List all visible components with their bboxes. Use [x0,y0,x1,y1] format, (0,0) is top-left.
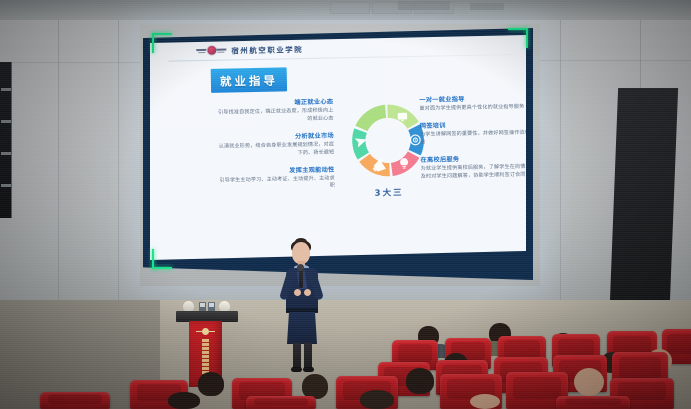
right-column: 一对一就业指导 面对面为学生提供更具个性化的就业指导服务 网签培训 为学生讲解网… [419,93,526,189]
lectern-emblem-icon [196,328,215,336]
audience-head [360,390,394,409]
right-block-3: 在离校后服务 为就业学生提供离校后服务，了解学生在岗情况，及时对学生问题解答，协… [420,152,526,181]
right-block-1: 一对一就业指导 面对面为学生提供更具个性化的就业指导服务 [419,93,526,114]
block-heading: 一对一就业指导 [419,93,526,104]
slide-body: 端正就业心态 引导找准自我定位，端正就业态度，形成积极向上的就业心态 分析就业市… [163,93,520,250]
left-column: 端正就业心态 引导找准自我定位，端正就业态度，形成积极向上的就业心态 分析就业市… [215,96,335,200]
lecture-hall-scene: 宿州航空职业学院 就业指导 端正就业心态 引导找准自我定位，端正就业态度，形成积… [0,0,691,409]
leg-right [304,343,312,369]
left-block-2: 分析就业市场 认清就业形势，结合自身职业发展规划情况，对症下药、扬长避短 [216,130,334,159]
left-block-1: 端正就业心态 引导找准自我定位，端正就业态度，形成积极向上的就业心态 [215,96,333,125]
block-heading: 端正就业心态 [215,96,333,107]
block-body: 引导找准自我定位，端正就业态度，形成积极向上的就业心态 [215,107,333,125]
slide-title: 就业指导 [220,74,278,89]
skirt [287,312,317,344]
microphone-head [297,264,304,271]
shoe-right [303,367,314,372]
block-heading: 发挥主观能动性 [217,164,335,175]
block-heading: 在离校后服务 [420,152,526,163]
school-logo-icon [196,45,226,59]
microphone-icon [299,268,303,288]
audience-head [198,372,224,396]
corner-alignment-bracket-top-left [152,33,178,59]
shoe-left [291,367,302,372]
corner-alignment-bracket-bottom-left [152,243,178,269]
school-name: 宿州航空职业学院 [231,44,303,56]
audience-head [168,392,200,409]
audience-head [470,394,500,409]
audience-head [406,368,434,394]
projected-slide: 宿州航空职业学院 就业指导 端正就业心态 引导找准自我定位，端正就业态度，形成积… [150,35,526,260]
seat [246,396,316,409]
block-body: 为就业学生提供离校后服务，了解学生在岗情况，及时对学生问题解答，协助学生顺利签订… [421,163,526,181]
seat [556,396,630,409]
segment-upper-left [355,105,386,132]
wall-panel-left [0,62,12,218]
block-body: 认清就业形势，结合自身职业发展规划情况，对症下药、扬长避短 [216,141,334,159]
block-body: 为学生讲解网签的重要性，并做好网签操作流程培训 [420,129,526,147]
left-block-3: 发挥主观能动性 引导学生主动学习、主动考证、主动提升、主动求职 [217,164,335,193]
doorway-right [610,88,678,303]
hand-left [294,289,301,296]
right-block-2: 网签培训 为学生讲解网签的重要性，并做好网签操作流程培训 [420,118,526,147]
presenter [276,242,328,370]
leg-left [293,343,301,369]
donut-chart [348,101,427,180]
donut-center-label: 3大三 [345,186,433,200]
slide-title-banner: 就业指导 [211,67,287,92]
audience-head [574,368,604,396]
block-body: 面对面为学生提供更具个性化的就业指导服务 [419,104,526,114]
block-heading: 分析就业市场 [216,130,334,141]
block-body: 引导学生主动学习、主动考证、主动提升、主动求职 [217,175,335,193]
block-heading: 网签培训 [420,118,526,129]
corner-alignment-bracket-top-right [502,28,528,54]
hand-right [304,289,311,296]
seat [40,392,110,409]
